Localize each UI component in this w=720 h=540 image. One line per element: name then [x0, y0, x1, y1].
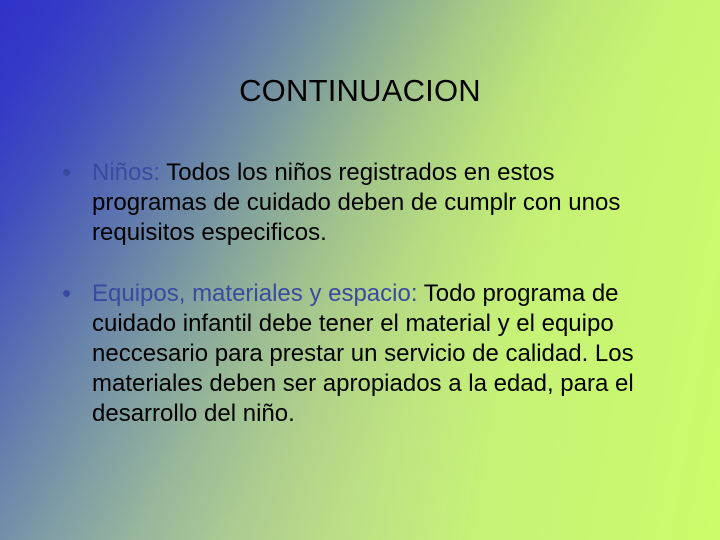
list-item: Niños: Todos los niños registrados en es…	[56, 158, 656, 248]
presentation-slide: CONTINUACION Niños: Todos los niños regi…	[0, 0, 720, 540]
bullet-lead-label: Equipos, materiales y espacio:	[92, 280, 418, 307]
bullet-body-text: Todos los niños registrados en estos pro…	[92, 159, 620, 246]
slide-bullet-list: Niños: Todos los niños registrados en es…	[56, 158, 656, 429]
bullet-text: Niños: Todos los niños registrados en es…	[92, 158, 656, 248]
bullet-dot-icon	[63, 169, 70, 176]
bullet-dot-icon	[63, 290, 70, 297]
slide-content: CONTINUACION Niños: Todos los niños regi…	[0, 0, 720, 540]
bullet-lead-label: Niños:	[92, 159, 160, 186]
list-item: Equipos, materiales y espacio: Todo prog…	[56, 279, 656, 429]
bullet-text: Equipos, materiales y espacio: Todo prog…	[92, 279, 656, 429]
slide-title: CONTINUACION	[0, 72, 720, 110]
